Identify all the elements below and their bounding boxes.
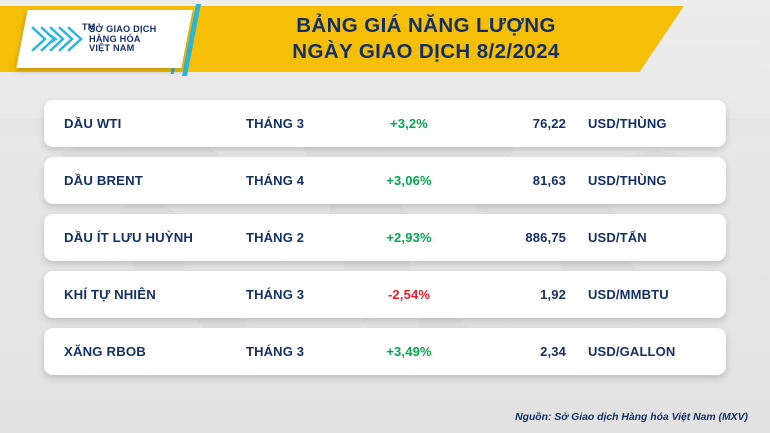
price-value: 81,63	[464, 173, 566, 188]
price-unit: USD/TẤN	[588, 230, 647, 245]
table-row: XĂNG RBOBTHÁNG 3+3,49%2,34USD/GALLON	[44, 328, 726, 375]
commodity-name: KHÍ TỰ NHIÊN	[64, 287, 156, 302]
contract-month: THÁNG 2	[246, 230, 304, 245]
trademark-mark: TM	[82, 23, 96, 33]
contract-month: THÁNG 3	[246, 344, 304, 359]
title-line-1: BẢNG GIÁ NĂNG LƯỢNG	[296, 13, 556, 39]
price-value: 2,34	[464, 344, 566, 359]
table-row: DẦU BRENTTHÁNG 4+3,06%81,63USD/THÙNG	[44, 157, 726, 204]
table-row: DẦU WTITHÁNG 3+3,2%76,22USD/THÙNG	[44, 100, 726, 147]
commodity-name: DẦU WTI	[64, 116, 121, 131]
title-line-2: NGÀY GIAO DỊCH 8/2/2024	[292, 39, 559, 65]
price-unit: USD/THÙNG	[588, 116, 667, 131]
commodity-name: DẦU BRENT	[64, 173, 143, 188]
contract-month: THÁNG 3	[246, 116, 304, 131]
table-row: KHÍ TỰ NHIÊNTHÁNG 3-2,54%1,92USD/MMBTU	[44, 271, 726, 318]
commodity-name: XĂNG RBOB	[64, 344, 146, 359]
price-value: 1,92	[464, 287, 566, 302]
price-value: 76,22	[464, 116, 566, 131]
price-unit: USD/THÙNG	[588, 173, 667, 188]
page-title: BẢNG GIÁ NĂNG LƯỢNG NGÀY GIAO DỊCH 8/2/2…	[196, 10, 656, 68]
logo-line-3: VIỆT NAM	[89, 44, 156, 54]
table-row: DẦU ÍT LƯU HUỲNHTHÁNG 2+2,93%886,75USD/T…	[44, 214, 726, 261]
price-change-percent: +3,2%	[344, 116, 474, 131]
price-change-percent: +3,06%	[344, 173, 474, 188]
price-value: 886,75	[464, 230, 566, 245]
price-table: DẦU WTITHÁNG 3+3,2%76,22USD/THÙNGDẦU BRE…	[44, 100, 726, 385]
price-change-percent: +2,93%	[344, 230, 474, 245]
contract-month: THÁNG 3	[246, 287, 304, 302]
logo-card: TM SỞ GIAO DỊCH HÀNG HÓA VIỆT NAM	[16, 10, 192, 68]
price-unit: USD/GALLON	[588, 344, 675, 359]
commodity-name: DẦU ÍT LƯU HUỲNH	[64, 230, 193, 245]
mxv-chevron-logo-icon	[30, 22, 84, 56]
page-background: TM SỞ GIAO DỊCH HÀNG HÓA VIỆT NAM BẢNG G…	[0, 0, 770, 433]
price-change-percent: -2,54%	[344, 287, 474, 302]
source-note: Nguồn: Sở Giao dịch Hàng hóa Việt Nam (M…	[515, 412, 748, 423]
page-header: TM SỞ GIAO DỊCH HÀNG HÓA VIỆT NAM BẢNG G…	[0, 0, 770, 78]
price-unit: USD/MMBTU	[588, 287, 669, 302]
contract-month: THÁNG 4	[246, 173, 304, 188]
price-change-percent: +3,49%	[344, 344, 474, 359]
